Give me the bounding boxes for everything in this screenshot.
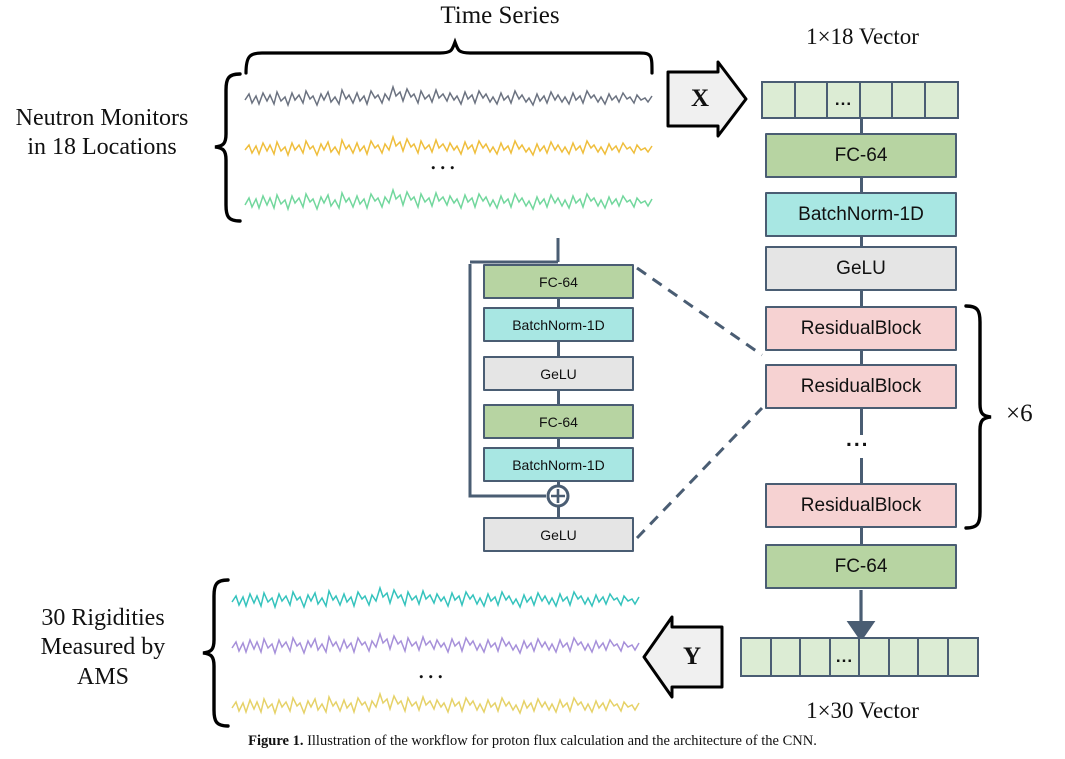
output-vector-cell bbox=[740, 637, 772, 677]
input-vector-strip[interactable]: ... bbox=[761, 81, 956, 119]
output-vector-cell bbox=[858, 637, 890, 677]
input-vector-cell bbox=[761, 81, 796, 119]
output-vector-cell bbox=[947, 637, 979, 677]
figure-canvas: Time Series Neutron Monitors in 18 Locat… bbox=[0, 0, 1065, 759]
figure-caption-text: Illustration of the workflow for proton … bbox=[307, 733, 817, 749]
layer-residual-block-n[interactable]: ResidualBlock bbox=[765, 483, 957, 528]
output-arrow-label: Y bbox=[668, 638, 716, 676]
rigidity-waveforms bbox=[232, 588, 639, 713]
layer-batchnorm-1d-input[interactable]: BatchNorm-1D bbox=[765, 192, 957, 237]
rigidities-label-line2: Measured by bbox=[8, 633, 198, 662]
figure-caption-label: Figure 1. bbox=[248, 733, 303, 749]
rigidities-label: 30 Rigidities Measured by AMS bbox=[8, 604, 198, 692]
neutron-monitors-label: Neutron Monitors in 18 Locations bbox=[4, 104, 200, 163]
input-arrow-label: X bbox=[676, 80, 724, 118]
output-vector-label: 1×30 Vector bbox=[750, 698, 975, 724]
detail-layer-fc-64-b[interactable]: FC-64 bbox=[483, 404, 634, 439]
output-vector-cell bbox=[917, 637, 949, 677]
connector bbox=[557, 342, 560, 356]
repeat-count-label: ×6 bbox=[1006, 400, 1033, 428]
detail-layer-batchnorm-b[interactable]: BatchNorm-1D bbox=[483, 447, 634, 482]
connector bbox=[860, 458, 863, 483]
input-vector-cell bbox=[891, 81, 926, 119]
detail-layer-gelu-a[interactable]: GeLU bbox=[483, 356, 634, 391]
connector bbox=[860, 291, 863, 306]
layer-residual-block-1[interactable]: ResidualBlock bbox=[765, 306, 957, 351]
detail-layer-fc-64-a[interactable]: FC-64 bbox=[483, 264, 634, 299]
output-vector-cell bbox=[799, 637, 831, 677]
time-series-label: Time Series bbox=[380, 2, 620, 30]
figure-caption: Figure 1. Illustration of the workflow f… bbox=[0, 733, 1065, 750]
output-vector-cell bbox=[770, 637, 802, 677]
neutron-monitors-label-line1: Neutron Monitors bbox=[4, 104, 200, 133]
input-vector-cell bbox=[859, 81, 894, 119]
output-vector-cell bbox=[888, 637, 920, 677]
connector bbox=[557, 506, 560, 517]
rigidities-brace bbox=[203, 580, 228, 726]
neutron-monitors-ellipsis: ... bbox=[430, 146, 459, 176]
neutron-monitors-label-line2: in 18 Locations bbox=[4, 133, 200, 162]
rigidities-label-line3: AMS bbox=[8, 663, 198, 692]
time-series-brace bbox=[246, 42, 652, 73]
detail-layer-gelu-b[interactable]: GeLU bbox=[483, 517, 634, 552]
rigidity-series-2 bbox=[232, 634, 639, 653]
layer-residual-block-2[interactable]: ResidualBlock bbox=[765, 364, 957, 409]
rigidity-series-3 bbox=[232, 694, 639, 713]
connector bbox=[557, 482, 560, 487]
layer-gelu-input[interactable]: GeLU bbox=[765, 246, 957, 291]
rigidity-series-1 bbox=[232, 588, 639, 607]
input-vector-label: 1×18 Vector bbox=[750, 24, 975, 50]
input-vector-cell bbox=[924, 81, 959, 119]
detail-layer-batchnorm-a[interactable]: BatchNorm-1D bbox=[483, 307, 634, 342]
connector bbox=[557, 391, 560, 404]
neutron-monitor-series-3 bbox=[245, 190, 652, 209]
neutron-monitor-series-1 bbox=[245, 87, 652, 105]
connector bbox=[557, 299, 560, 307]
residual-blocks-ellipsis: ... bbox=[846, 428, 870, 452]
input-vector-cell-ellipsis: ... bbox=[826, 81, 861, 119]
connector bbox=[557, 439, 560, 447]
rigidities-label-line1: 30 Rigidities bbox=[8, 604, 198, 633]
connector bbox=[860, 351, 863, 364]
residual-expansion-links bbox=[637, 268, 762, 538]
layer-fc-64-output[interactable]: FC-64 bbox=[765, 544, 957, 589]
repeat-brace bbox=[966, 306, 991, 528]
input-vector-cell bbox=[794, 81, 829, 119]
layer-fc-64-input[interactable]: FC-64 bbox=[765, 133, 957, 178]
output-vector-cell-ellipsis: ... bbox=[829, 637, 861, 677]
connector bbox=[860, 528, 863, 544]
output-vector-strip[interactable]: ... bbox=[740, 637, 976, 677]
rigidities-ellipsis: ... bbox=[418, 655, 447, 685]
neutron-monitors-brace bbox=[215, 74, 240, 221]
